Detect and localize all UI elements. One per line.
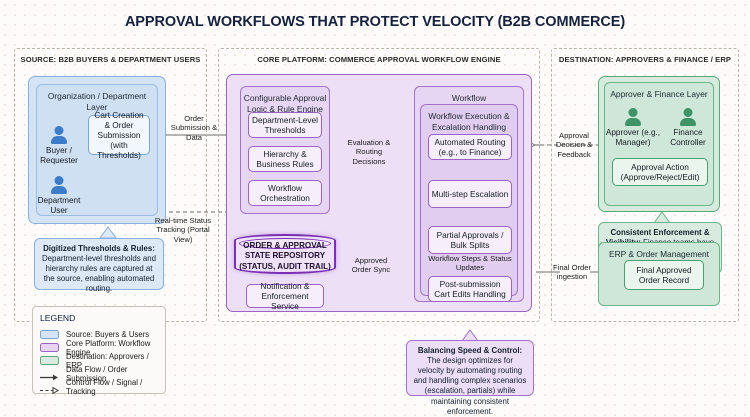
order-approval-state-repository[interactable]: ORDER & APPROVAL STATE REPOSITORY (STATU… (234, 234, 336, 274)
edge-label-order-submission: Order Submission & Data (168, 114, 220, 142)
diagram-canvas: APPROVAL WORKFLOWS THAT PROTECT VELOCITY… (0, 0, 750, 409)
finance-controller-label: Finance Controller (661, 128, 715, 148)
legend-swatch-core (40, 343, 59, 352)
digitized-thresholds-note: Digitized Thresholds & Rules: Department… (34, 238, 164, 290)
solid-arrow-icon (40, 369, 59, 378)
lane-core-title: CORE PLATFORM: COMMERCE APPROVAL WORKFLO… (219, 55, 539, 64)
automated-routing-node[interactable]: Automated Routing (e.g., to Finance) (428, 134, 512, 160)
finance-controller-icon (677, 108, 699, 126)
repository-label: ORDER & APPROVAL STATE REPOSITORY (STATU… (236, 236, 334, 271)
workflow-label: Workflow (415, 93, 523, 104)
balancing-note-title: Balancing Speed & Control: (418, 346, 522, 355)
buyer-requester-icon (48, 126, 70, 144)
workflow-execution-label: Workflow Execution & Excalation Handling (421, 111, 517, 132)
hierarchy-business-rules-node[interactable]: Hierarchy & Business Rules (248, 146, 322, 172)
partial-approvals-node[interactable]: Partial Approvals / Bulk Splits (428, 226, 512, 254)
dashed-arrow-icon (40, 382, 59, 391)
approver-label: Approver (e.g., Manager) (605, 128, 661, 148)
workflow-orchestration-node[interactable]: Workflow Orchestration (248, 180, 322, 206)
workflow-steps-status-updates-label: Workflow Steps & Status Updates (422, 254, 518, 273)
edge-label-evaluation-routing: Evaluation & Routing Decisions (344, 138, 394, 166)
balancing-note-body: The design optimizes for velocity by aut… (414, 356, 527, 416)
edge-label-approved-order-sync: Approved Order Sync (344, 256, 398, 275)
rule-engine-label: Configurable Approval Logic & Rule Engin… (241, 93, 329, 114)
legend-title: LEGEND (40, 313, 158, 323)
edge-label-final-order-ingestion: Final Order ingestion (548, 263, 596, 282)
lane-destination-title: DESTINATION: APPROVERS & FINANCE / ERP (552, 55, 738, 64)
post-submission-cart-edits-node[interactable]: Post-submission Cart Edits Handling (428, 276, 512, 302)
legend-swatch-destination (40, 356, 59, 365)
digitized-thresholds-note-body: Department-level thresholds and hierarch… (42, 254, 156, 293)
multi-step-escalation-node[interactable]: Multi-step Escalation (428, 180, 512, 208)
legend-swatch-source (40, 330, 59, 339)
lane-source-title: SOURCE: B2B BUYERS & DEPARTMENT USERS (15, 55, 206, 64)
department-level-thresholds-node[interactable]: Department-Level Thresholds (248, 112, 322, 138)
edge-label-approval-decision: Approval Decision & Feedback (550, 131, 598, 159)
approver-icon (622, 108, 644, 126)
department-user-label: Department User (30, 196, 88, 216)
edge-label-realtime-status: Real-time Status Tracking (Portal View) (152, 216, 214, 244)
legend: LEGEND Source: Buyers & Users Core Platf… (32, 306, 166, 394)
digitized-thresholds-note-title: Digitized Thresholds & Rules: (43, 244, 155, 253)
approver-finance-layer-label: Approver & Finance Layer (605, 89, 713, 100)
buyer-requester-label: Buyer / Requester (30, 146, 88, 166)
department-user-icon (48, 176, 70, 194)
balancing-speed-control-note: Balancing Speed & Control: The design op… (406, 340, 534, 396)
notification-enforcement-node[interactable]: Notification & Enforcement Service (246, 284, 324, 308)
legend-label-control-flow: Control Flow / Signal / Tracking (66, 378, 158, 396)
approval-action-node[interactable]: Approval Action (Approve/Reject/Edit) (612, 158, 708, 186)
final-approved-order-record-node[interactable]: Final Approved Order Record (624, 260, 704, 290)
cart-creation-node[interactable]: Cart Creation & Order Submission (with T… (88, 115, 150, 155)
legend-item-control-flow: Control Flow / Signal / Tracking (40, 380, 158, 393)
page-title: APPROVAL WORKFLOWS THAT PROTECT VELOCITY… (0, 14, 750, 30)
